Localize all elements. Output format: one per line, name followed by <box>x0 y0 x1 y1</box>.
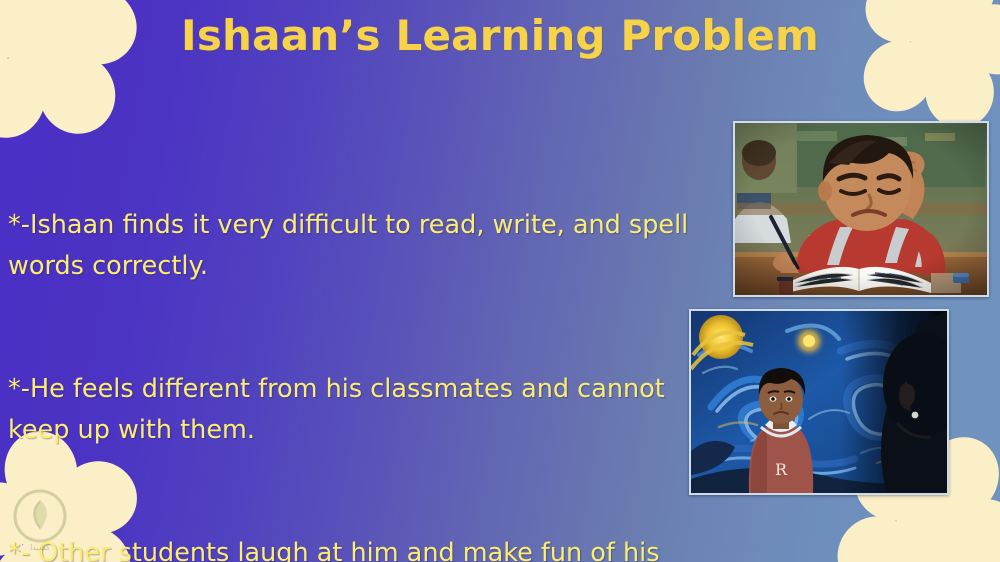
slide-title: Ishaan’s Learning Problem <box>0 11 1000 60</box>
body-line-1: *-Ishaan finds it very difficult to read… <box>8 205 698 287</box>
presentation-slide: Ishaan’s Learning Problem *-Ishaan finds… <box>0 0 1000 562</box>
slide-body-text: *-Ishaan finds it very difficult to read… <box>8 123 698 562</box>
body-line-3: *- Other students laugh at him and make … <box>8 533 698 562</box>
image-classroom-boy-writing <box>733 121 989 297</box>
svg-text:R: R <box>775 460 788 479</box>
body-line-2: *-He feels different from his classmates… <box>8 369 698 451</box>
image-boy-starry-night-mural: R <box>689 309 949 495</box>
